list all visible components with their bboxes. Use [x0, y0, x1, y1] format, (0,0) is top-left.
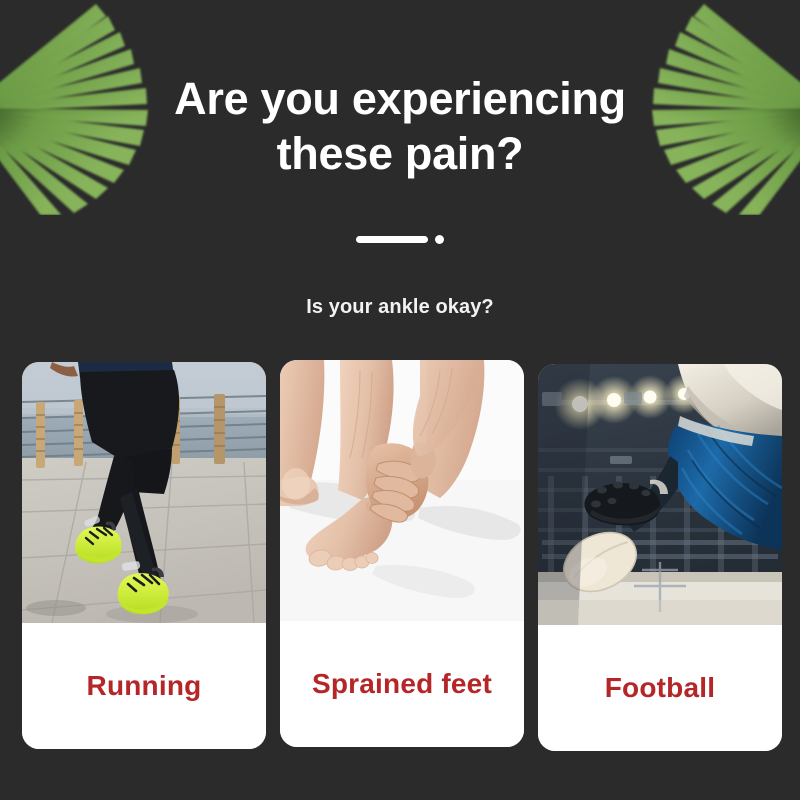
card-label: Running [87, 670, 202, 702]
headline-line-1: Are you experiencing [0, 72, 800, 127]
sprained-feet-photo [280, 360, 524, 621]
card-caption: Running [22, 623, 266, 749]
card-caption: Football [538, 625, 782, 751]
football-photo [538, 364, 782, 625]
card-caption: Sprained feet [280, 621, 524, 747]
divider-bar [356, 236, 428, 243]
card-label: Football [605, 672, 715, 704]
sprained-feet-photo-illustration [280, 360, 524, 621]
running-photo-illustration [22, 362, 266, 623]
section-divider [0, 235, 800, 244]
list-item[interactable]: Football [538, 364, 782, 751]
card-label: Sprained feet [312, 668, 492, 700]
headline-line-2: these pain? [0, 127, 800, 182]
running-photo [22, 362, 266, 623]
list-item[interactable]: Running [22, 362, 266, 749]
football-photo-illustration [538, 364, 782, 625]
page-title: Are you experiencing these pain? [0, 72, 800, 182]
category-card-row: Running [22, 360, 782, 750]
divider-dot [435, 235, 444, 244]
list-item[interactable]: Sprained feet [280, 360, 524, 747]
page-subtitle: Is your ankle okay? [0, 296, 800, 319]
